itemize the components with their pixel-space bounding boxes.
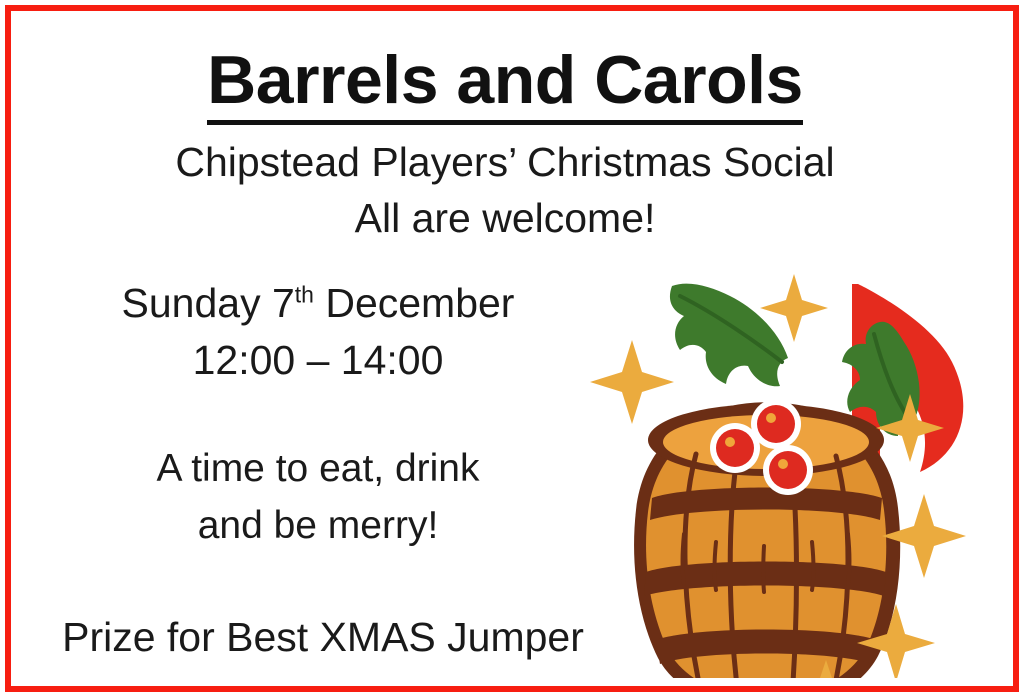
berry-2	[716, 429, 754, 467]
poster-subtitle-welcome: All are welcome!	[0, 196, 1010, 241]
sparkle-icon	[590, 340, 674, 424]
berry-highlight-3	[778, 459, 788, 469]
berry-highlight-2	[725, 437, 735, 447]
event-prize-note: Prize for Best XMAS Jumper	[0, 615, 646, 660]
berry-1	[757, 405, 795, 443]
event-description-line-2: and be merry!	[0, 505, 636, 548]
event-date: Sunday 7th December	[0, 281, 636, 326]
event-date-ordinal: th	[295, 281, 314, 307]
berry-3	[769, 451, 807, 489]
page-title-text: Barrels and Carols	[207, 42, 803, 125]
event-time: 12:00 – 14:00	[0, 338, 636, 383]
poster-subtitle-organisation: Chipstead Players’ Christmas Social	[0, 140, 1010, 185]
event-date-prefix: Sunday 7	[122, 280, 295, 326]
event-date-suffix: December	[314, 280, 515, 326]
page-title: Barrels and Carols	[0, 46, 1010, 114]
barrel-holly-music-note-illustration	[580, 258, 1000, 678]
poster-canvas: Barrels and Carols Chipstead Players’ Ch…	[0, 0, 1024, 697]
event-description-line-1: A time to eat, drink	[0, 448, 636, 491]
berry-highlight-1	[766, 413, 776, 423]
